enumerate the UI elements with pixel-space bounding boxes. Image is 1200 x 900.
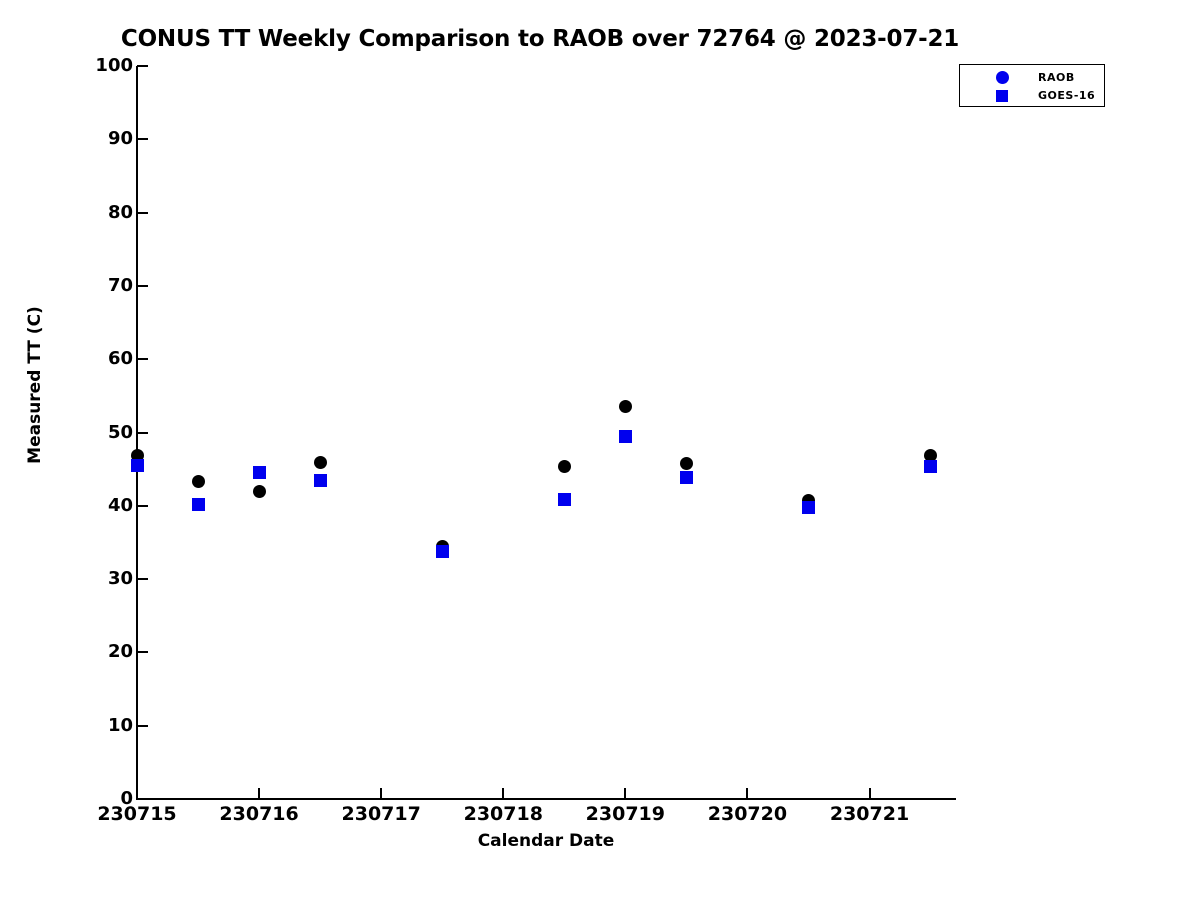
data-point-goes-16 (436, 545, 449, 558)
x-tick-label-230721: 230721 (800, 803, 940, 825)
y-axis-label: Measured TT (C) (25, 235, 45, 535)
legend-entry-goes16[interactable]: GOES-16 (960, 87, 1104, 107)
data-point-raob (680, 457, 693, 470)
data-point-goes-16 (314, 474, 327, 487)
x-tick-label-230716: 230716 (189, 803, 329, 825)
plot-area (137, 66, 955, 799)
y-tick-label-10: 10 (73, 717, 133, 735)
legend-circle-marker-icon (996, 71, 1009, 84)
chart-title: CONUS TT Weekly Comparison to RAOB over … (0, 26, 1080, 52)
y-tick-label-100: 100 (73, 57, 133, 75)
data-point-raob (192, 475, 205, 488)
data-point-raob (558, 460, 571, 473)
chart-figure: CONUS TT Weekly Comparison to RAOB over … (0, 0, 1200, 900)
y-tick-label-50: 50 (73, 424, 133, 442)
x-tick-label-230719: 230719 (555, 803, 695, 825)
legend-entry-raob[interactable]: RAOB (960, 69, 1104, 89)
data-point-raob (314, 456, 327, 469)
data-point-goes-16 (802, 501, 815, 514)
legend-square-marker-icon (996, 90, 1008, 102)
data-point-goes-16 (680, 471, 693, 484)
legend-label-goes16: GOES-16 (1038, 89, 1095, 102)
x-axis-label: Calendar Date (137, 831, 955, 851)
data-point-goes-16 (619, 430, 632, 443)
y-tick-label-20: 20 (73, 643, 133, 661)
data-point-raob (253, 485, 266, 498)
y-tick-label-80: 80 (73, 204, 133, 222)
data-point-raob (619, 400, 632, 413)
y-tick-label-70: 70 (73, 277, 133, 295)
y-tick-label-40: 40 (73, 497, 133, 515)
chart-legend[interactable]: RAOB GOES-16 (959, 64, 1105, 107)
data-point-goes-16 (192, 498, 205, 511)
legend-label-raob: RAOB (1038, 71, 1075, 84)
data-point-goes-16 (131, 459, 144, 472)
x-tick-label-230720: 230720 (677, 803, 817, 825)
y-tick-label-90: 90 (73, 130, 133, 148)
data-point-goes-16 (558, 493, 571, 506)
x-tick-label-230717: 230717 (311, 803, 451, 825)
y-tick-label-60: 60 (73, 350, 133, 368)
data-point-goes-16 (924, 460, 937, 473)
y-tick-label-30: 30 (73, 570, 133, 588)
data-point-goes-16 (253, 466, 266, 479)
x-tick-label-230718: 230718 (433, 803, 573, 825)
x-tick-label-230715: 230715 (67, 803, 207, 825)
